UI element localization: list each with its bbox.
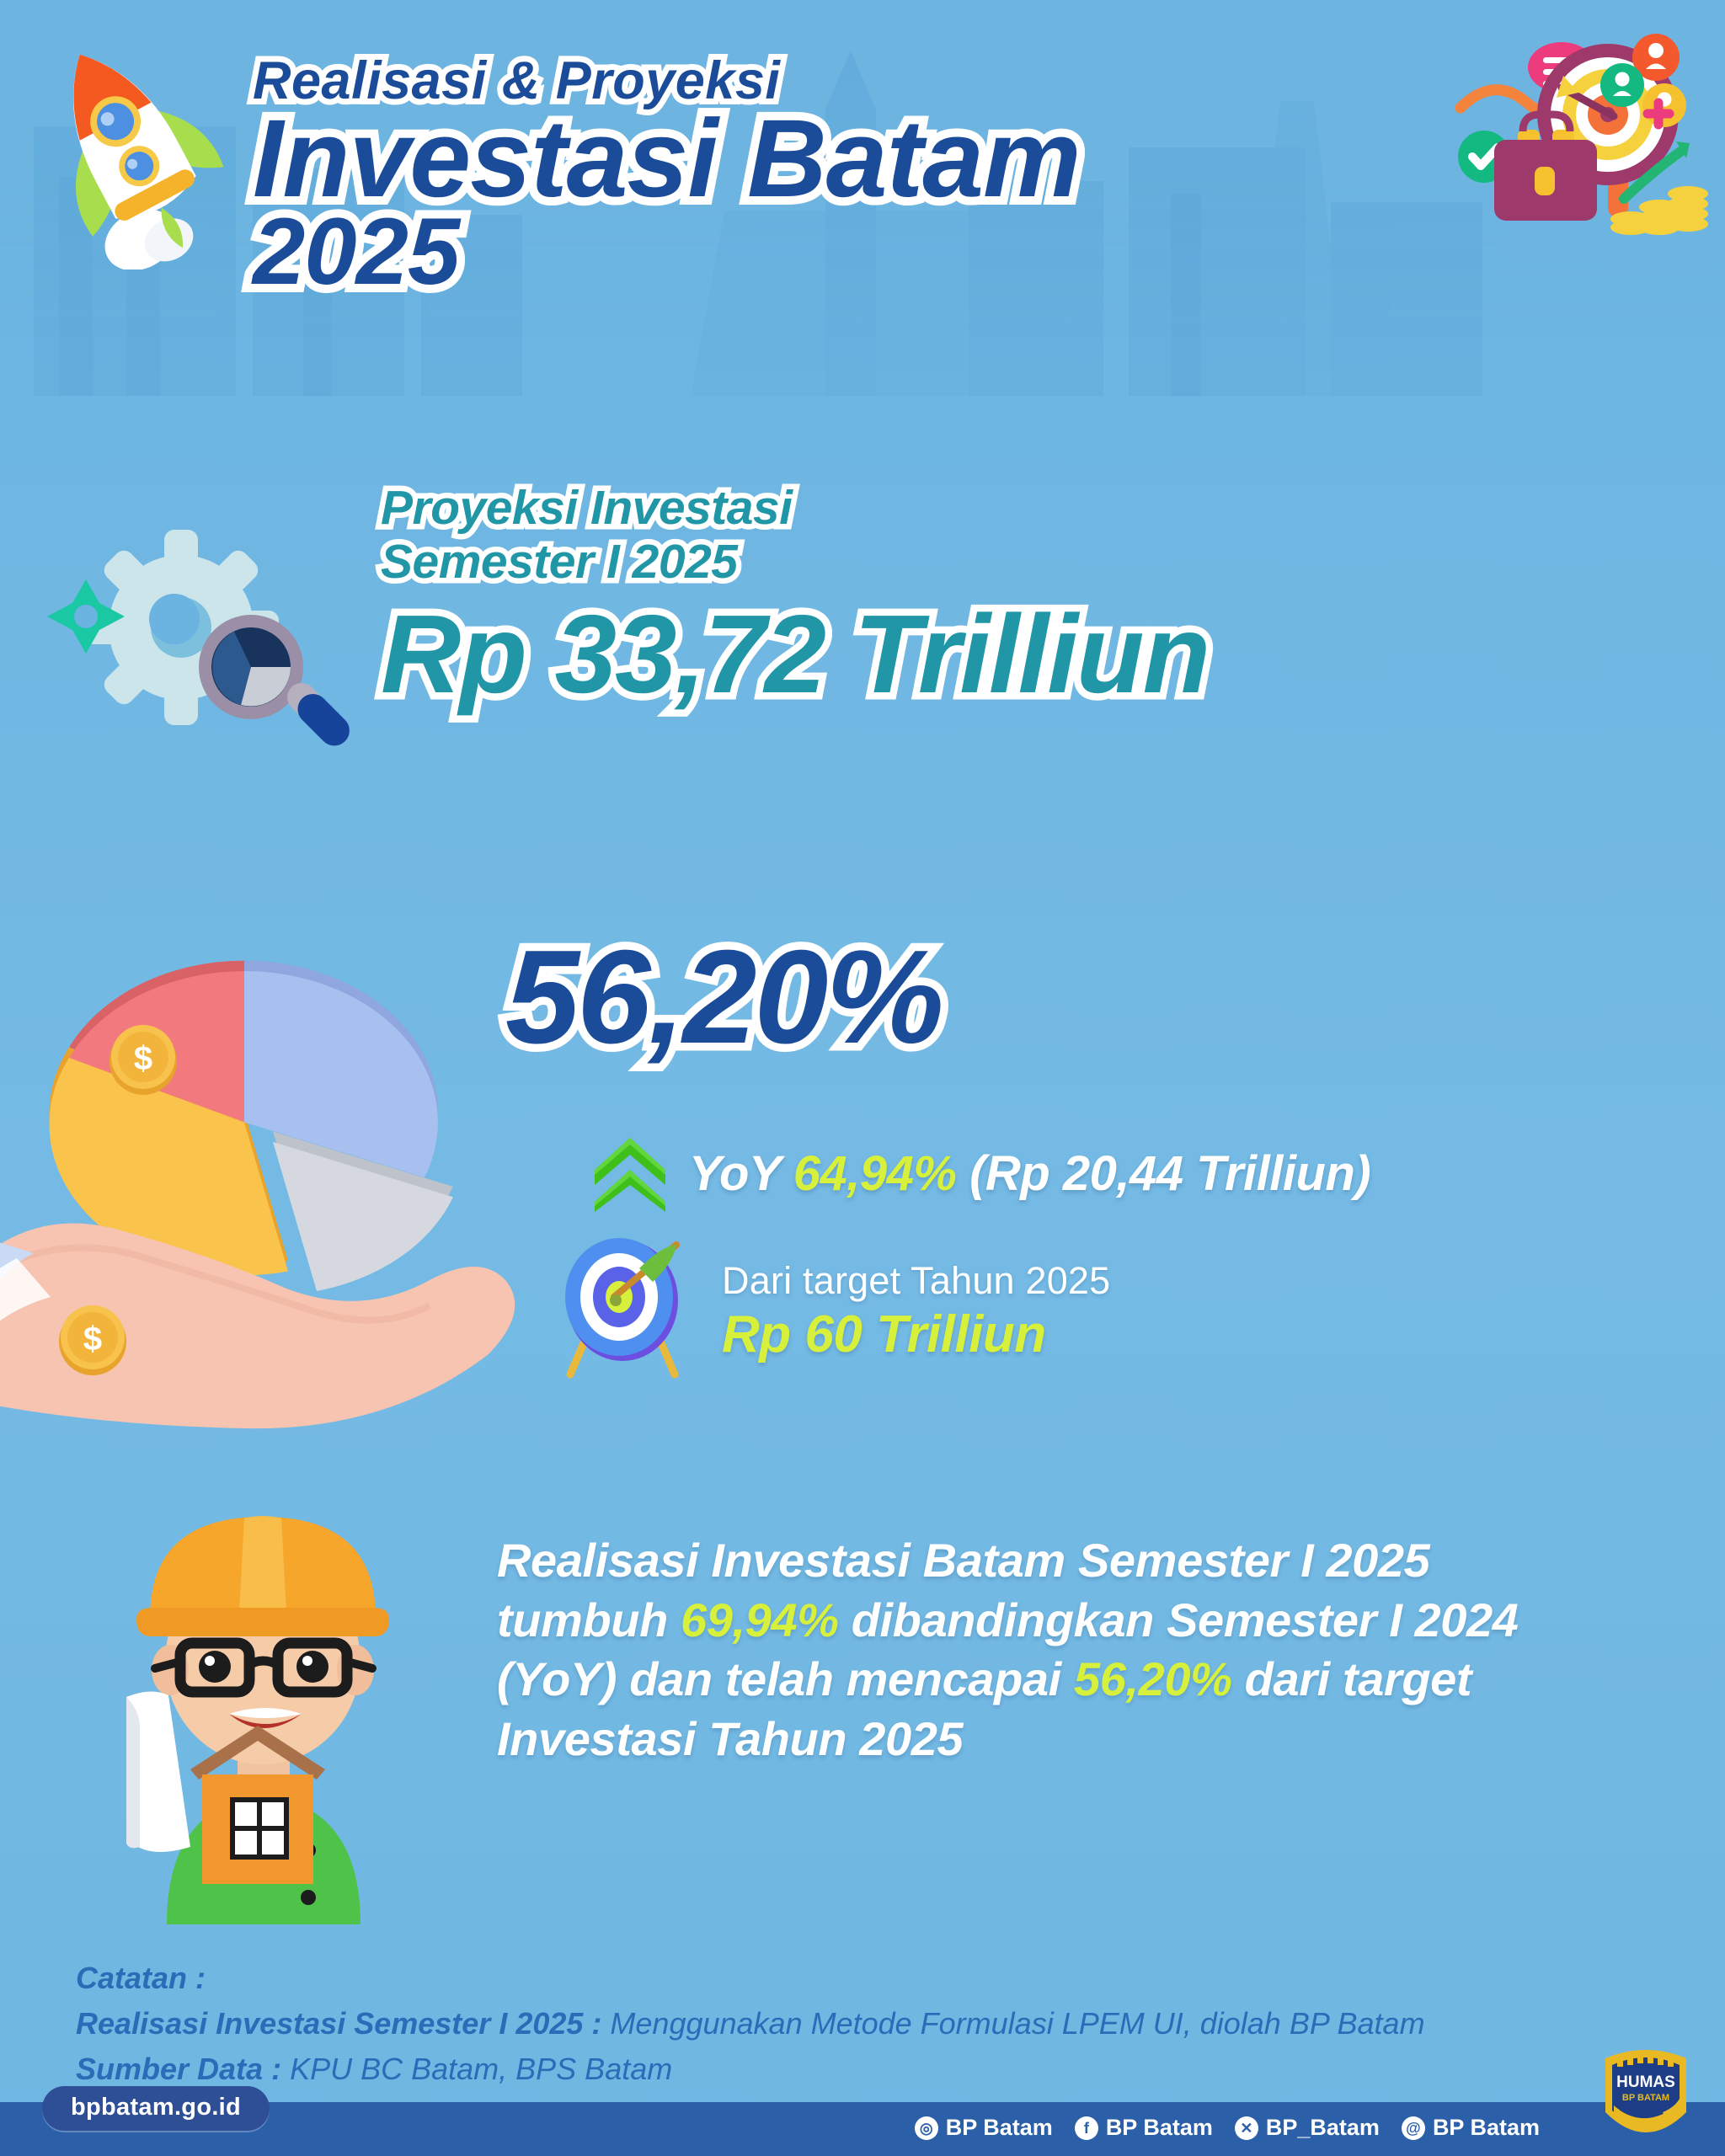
threads-icon: @ [1402,2116,1425,2140]
infographic-poster: Realisasi & Proyeksi Investasi Batam 202… [0,0,1725,2156]
humas-logo-line2: BP BATAM [1622,2093,1669,2103]
narrative-paragraph: Realisasi Investasi Batam Semester I 202… [497,1531,1533,1769]
footnote-source-value: KPU BC Batam, BPS Batam [290,2052,672,2086]
projection-label-line1: Proyeksi Investasi [381,482,1560,536]
footnote-line-source: Sumber Data : KPU BC Batam, BPS Batam [76,2047,1659,2092]
briefcase-target-icon [1435,7,1713,243]
website-url[interactable]: bpbatam.go.id [42,2086,270,2131]
humas-logo-line1: HUMAS [1616,2073,1675,2091]
facebook-icon: f [1075,2116,1098,2140]
social-instagram[interactable]: ◎ BP Batam [915,2115,1053,2141]
footnote-method-value: Menggunakan Metode Formulasi LPEM UI, di… [610,2006,1424,2041]
social-threads[interactable]: @ BP Batam [1402,2115,1540,2141]
construction-worker-icon [67,1470,463,1924]
social-facebook[interactable]: f BP Batam [1075,2115,1213,2141]
social-x[interactable]: ✕ BP_Batam [1235,2115,1380,2141]
footnote-source-label: Sumber Data : [76,2052,290,2086]
target-dart-icon [552,1238,697,1380]
target-texts: Dari target Tahun 2025 Rp 60 Trilliun [722,1254,1110,1364]
yoy-amount: (Rp 20,44 Trilliun) [969,1146,1370,1201]
rocket-icon [15,25,251,269]
yoy-row: YoY 64,94% (Rp 20,44 Trilliun) [590,1133,1370,1214]
footnote-heading: Catatan : [76,1956,1659,2001]
yoy-percent: 64,94% [793,1146,957,1201]
svg-text:$: $ [83,1321,102,1358]
yoy-text: YoY 64,94% (Rp 20,44 Trilliun) [689,1145,1370,1202]
projection-label-line2: Semester I 2025 [381,536,1560,590]
instagram-icon: ◎ [915,2116,938,2140]
target-caption: Dari target Tahun 2025 [722,1259,1110,1303]
yoy-prefix: YoY [689,1146,780,1201]
achievement-percent: 56,20% [505,931,942,1064]
social-handle-instagram: BP Batam [946,2115,1053,2141]
poster-header: Realisasi & Proyeksi Investasi Batam 202… [0,0,1725,421]
projection-block: Proyeksi Investasi Semester I 2025 Rp 33… [381,482,1560,712]
page-title: Investasi Batam [253,108,1081,210]
target-value: Rp 60 Trilliun [722,1305,1110,1364]
footnote-method-label: Realisasi Investasi Semester I 2025 : [76,2006,610,2041]
x-twitter-icon: ✕ [1235,2116,1258,2140]
pie-chart-hand-icon: $ $ [0,808,531,1432]
title-block: Realisasi & Proyeksi Investasi Batam 202… [253,51,1081,299]
social-handles: ◎ BP Batam f BP Batam ✕ BP_Batam @ BP Ba… [915,2115,1540,2141]
footnote-line-method: Realisasi Investasi Semester I 2025 : Me… [76,2001,1659,2047]
achievement-percent-block: 56,20% [505,931,942,1064]
social-handle-threads: BP Batam [1433,2115,1540,2141]
narrative-highlight2: 56,20% [1074,1652,1232,1705]
narrative-highlight1: 69,94% [681,1593,839,1646]
double-chevron-up-icon [590,1133,670,1214]
humas-bp-batam-logo: HUMAS BP BATAM [1595,2043,1696,2153]
gear-magnifier-icon [25,480,362,800]
social-handle-facebook: BP Batam [1106,2115,1213,2141]
projection-value: Rp 33,72 Trilliun [381,596,1560,713]
target-row: Dari target Tahun 2025 Rp 60 Trilliun [552,1238,1110,1380]
social-handle-x: BP_Batam [1266,2115,1380,2141]
svg-text:$: $ [134,1040,152,1077]
footnote-block: Catatan : Realisasi Investasi Semester I… [76,1956,1659,2092]
